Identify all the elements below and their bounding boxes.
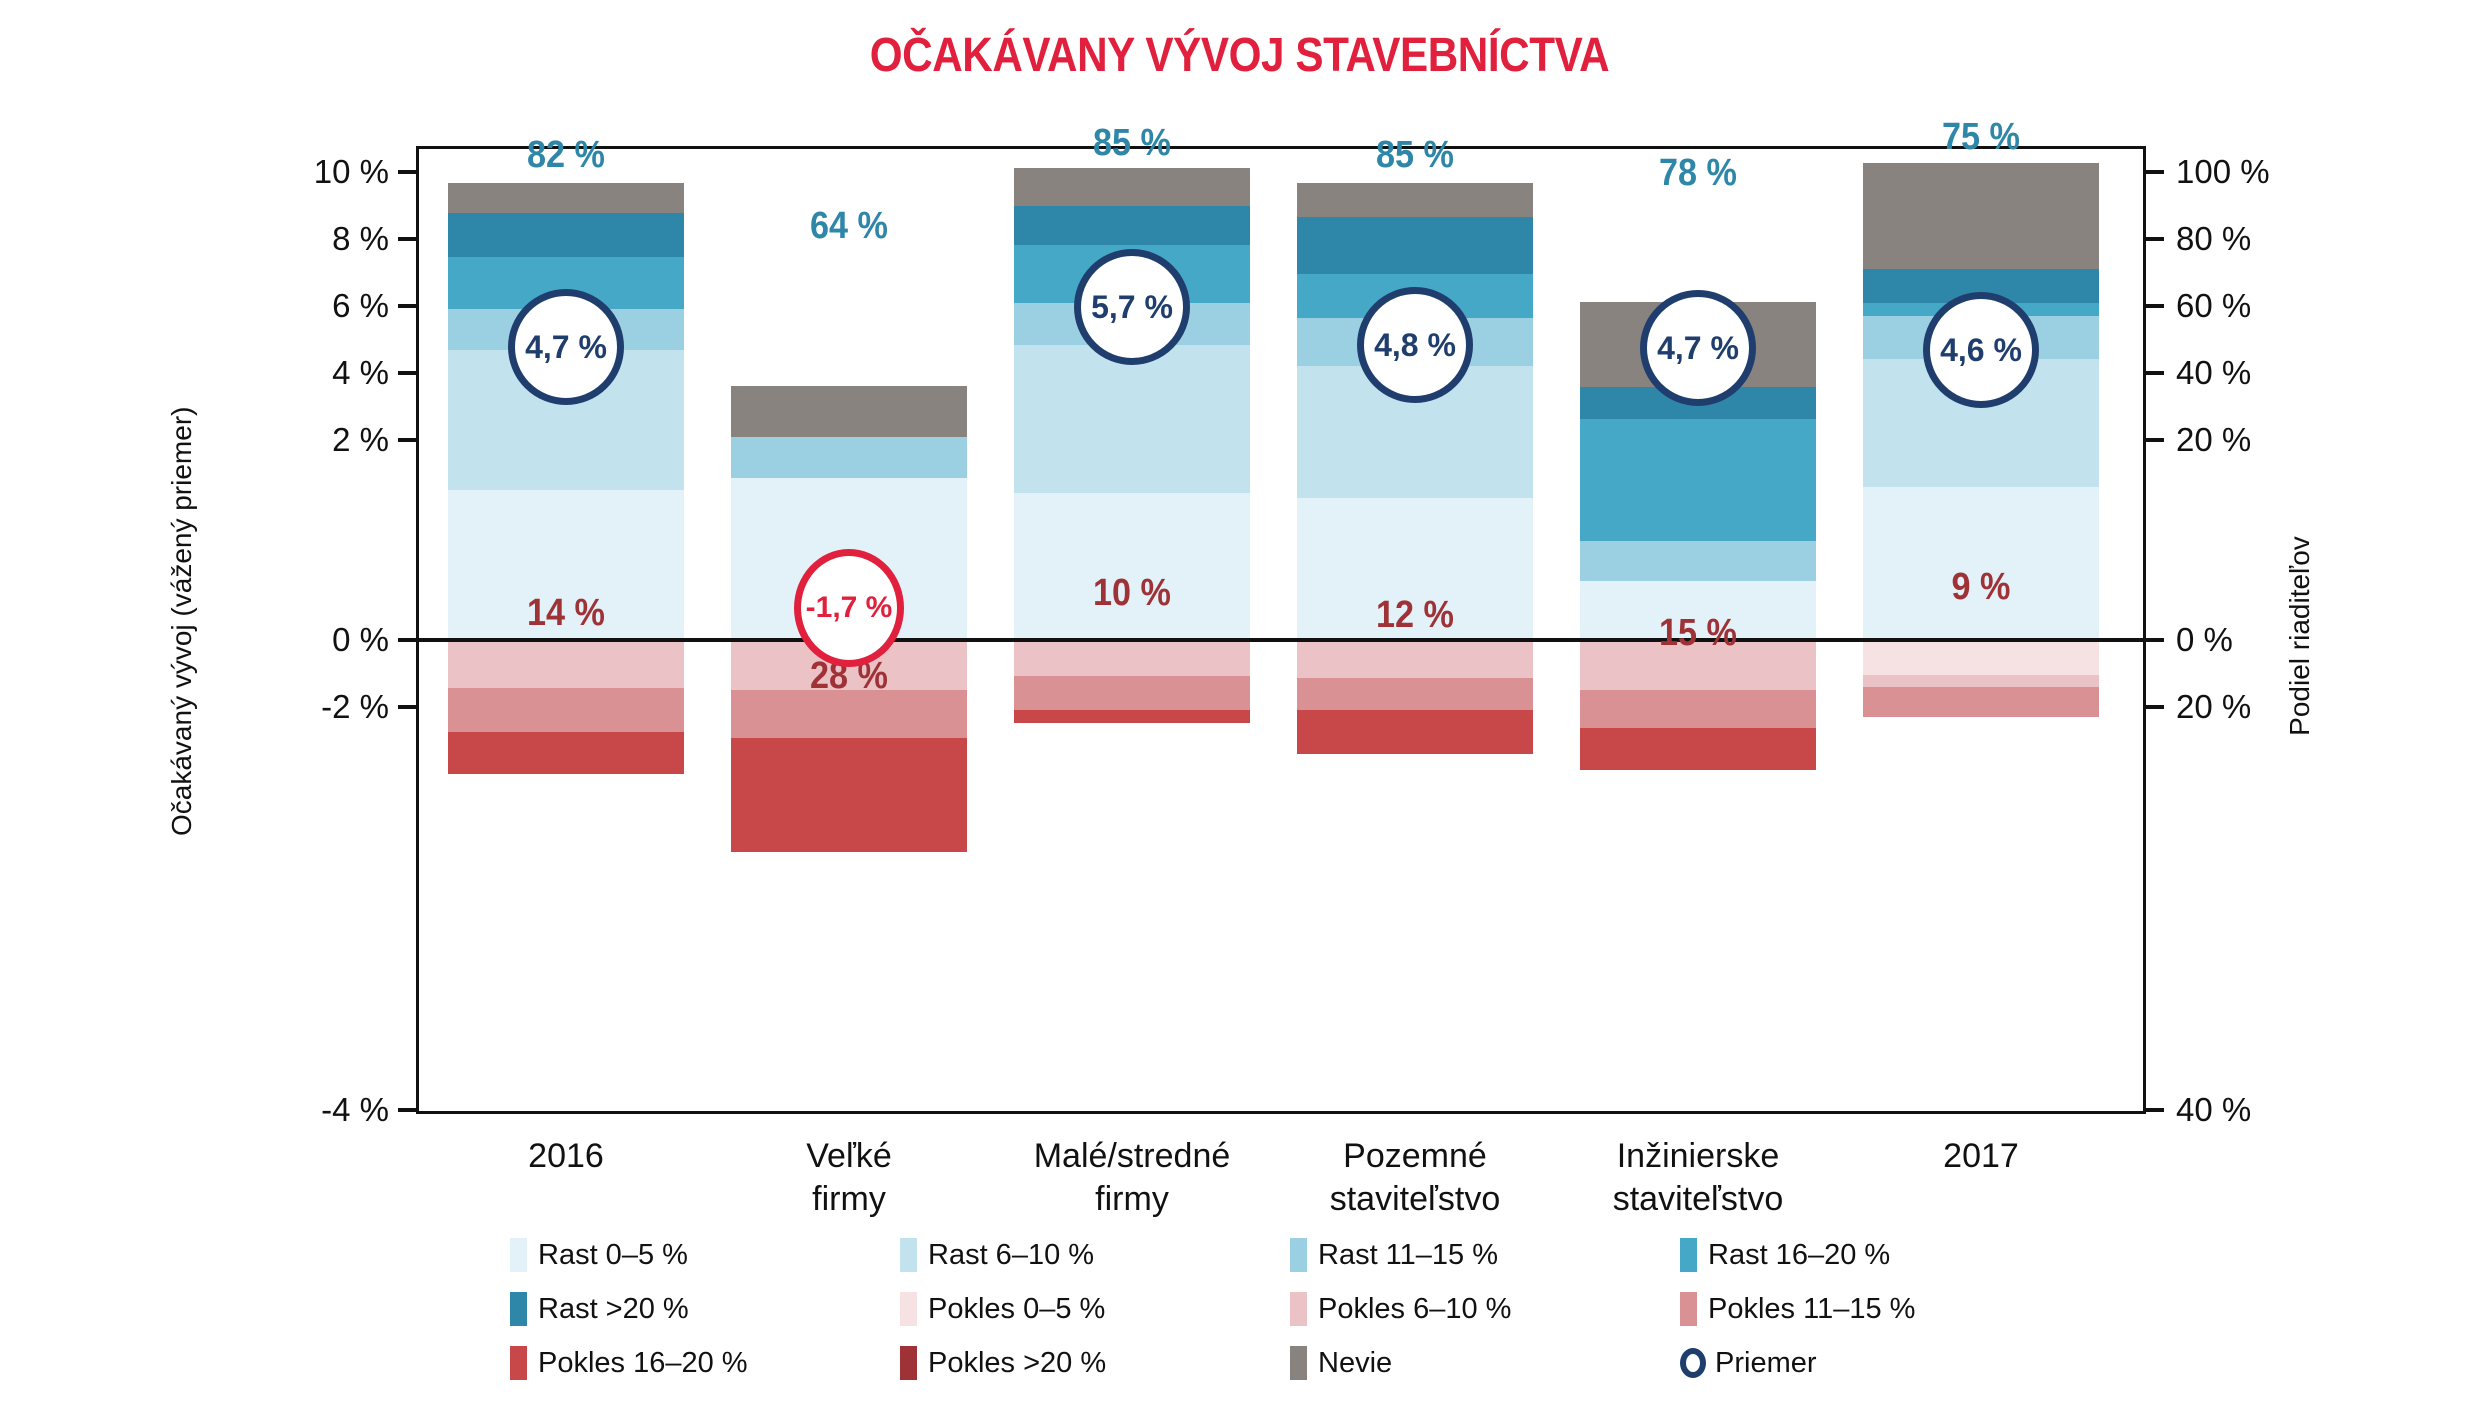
bar-segment[interactable]: [1297, 642, 1533, 678]
bar-segment[interactable]: [1014, 345, 1250, 493]
chart-legend: Rast 0–5 %Rast 6–10 %Rast 11–15 %Rast 16…: [510, 1238, 2070, 1380]
y-axis-right-tick: [2144, 1108, 2164, 1112]
y-axis-right-tick: [2144, 304, 2164, 308]
legend-item[interactable]: Rast 11–15 %: [1290, 1238, 1680, 1272]
bar-segment[interactable]: [448, 732, 684, 774]
bar-segment[interactable]: [1863, 487, 2099, 638]
bar-group[interactable]: 85 %12 %4,8 %: [1297, 0, 1533, 1114]
bar-group[interactable]: 85 %10 %5,7 %: [1014, 0, 1250, 1114]
bar-segment[interactable]: [448, 642, 684, 688]
legend-label: Pokles 16–20 %: [538, 1347, 748, 1380]
average-marker: 4,7 %: [1640, 290, 1756, 406]
y-axis-right-tick: [2144, 638, 2164, 642]
legend-label: Rast 16–20 %: [1708, 1239, 1890, 1272]
bar-growth-total-label: 85 %: [1309, 134, 1521, 177]
legend-item[interactable]: Pokles 11–15 %: [1680, 1292, 2070, 1326]
bar-segment[interactable]: [1863, 163, 2099, 269]
legend-swatch-icon: [1680, 1292, 1697, 1326]
legend-swatch-icon: [1680, 1238, 1697, 1272]
y-axis-left-label: 10 %: [314, 153, 389, 191]
bar-group[interactable]: 75 %9 %4,6 %: [1863, 0, 2099, 1114]
bar-group[interactable]: 64 %28 %-1,7 %: [731, 0, 967, 1114]
y-axis-left-title: Očakávaný vývoj (vážený priemer): [166, 416, 198, 836]
bar-growth-total-label: 75 %: [1875, 116, 2087, 159]
y-axis-left-label: 6 %: [332, 287, 389, 325]
bar-segment[interactable]: [1014, 710, 1250, 723]
y-axis-left-tick: [398, 170, 418, 174]
y-axis-left-tick: [398, 1108, 418, 1112]
legend-swatch-icon: [510, 1346, 527, 1380]
y-axis-right-tick: [2144, 371, 2164, 375]
bar-segment[interactable]: [1014, 642, 1250, 676]
bar-segment[interactable]: [1297, 217, 1533, 274]
y-axis-left-label: -4 %: [321, 1091, 389, 1129]
average-marker: 5,7 %: [1074, 249, 1190, 365]
legend-label: Pokles 6–10 %: [1318, 1293, 1511, 1326]
bar-segment[interactable]: [448, 183, 684, 213]
legend-label: Rast 0–5 %: [538, 1239, 688, 1272]
bar-segment[interactable]: [1580, 419, 1816, 541]
y-axis-right-tick: [2144, 170, 2164, 174]
bar-decline-total-label: 9 %: [1875, 566, 2087, 609]
y-axis-left-tick: [398, 705, 418, 709]
legend-item[interactable]: Rast 6–10 %: [900, 1238, 1290, 1272]
legend-item[interactable]: Pokles >20 %: [900, 1346, 1290, 1380]
y-axis-right-label: 20 %: [2176, 421, 2251, 459]
bar-growth-total-label: 64 %: [743, 205, 955, 248]
y-axis-left-label: 8 %: [332, 220, 389, 258]
y-axis-left-tick: [398, 438, 418, 442]
bar-group[interactable]: 78 %15 %4,7 %: [1580, 0, 1816, 1114]
bar-segment[interactable]: [1863, 687, 2099, 717]
bar-segment[interactable]: [1014, 168, 1250, 206]
bar-segment[interactable]: [731, 386, 967, 437]
bar-segment[interactable]: [1014, 493, 1250, 638]
y-axis-left-tick: [398, 371, 418, 375]
legend-swatch-icon: [900, 1292, 917, 1326]
y-axis-right-label: 20 %: [2176, 688, 2251, 726]
bar-segment[interactable]: [1580, 541, 1816, 581]
bar-segment[interactable]: [1863, 642, 2099, 675]
legend-item[interactable]: Priemer: [1680, 1346, 2070, 1380]
bar-decline-total-label: 12 %: [1309, 594, 1521, 637]
legend-label: Pokles >20 %: [928, 1347, 1106, 1380]
bar-decline-total-label: 10 %: [1026, 572, 1238, 615]
average-marker: -1,7 %: [794, 549, 904, 667]
legend-swatch-icon: [1290, 1238, 1307, 1272]
legend-label: Rast >20 %: [538, 1293, 689, 1326]
legend-label: Nevie: [1318, 1347, 1392, 1380]
legend-swatch-icon: [510, 1292, 527, 1326]
legend-label: Priemer: [1715, 1347, 1817, 1380]
legend-label: Pokles 0–5 %: [928, 1293, 1105, 1326]
bar-segment[interactable]: [1863, 675, 2099, 687]
y-axis-right-label: 40 %: [2176, 1091, 2251, 1129]
bar-segment[interactable]: [1297, 678, 1533, 710]
legend-swatch-icon: [900, 1238, 917, 1272]
bar-segment[interactable]: [1297, 183, 1533, 217]
bar-growth-total-label: 82 %: [460, 134, 672, 177]
legend-swatch-icon: [1290, 1292, 1307, 1326]
x-axis-category-label: 2017: [1793, 1135, 2169, 1178]
bar-segment[interactable]: [1014, 676, 1250, 710]
y-axis-right-tick: [2144, 705, 2164, 709]
legend-item[interactable]: Rast 16–20 %: [1680, 1238, 2070, 1272]
y-axis-right-label: 100 %: [2176, 153, 2270, 191]
y-axis-left-label: 0 %: [332, 621, 389, 659]
y-axis-right-title: Podiel riaditeľov: [2284, 426, 2316, 846]
y-axis-left-label: 2 %: [332, 421, 389, 459]
y-axis-left-label: -2 %: [321, 688, 389, 726]
y-axis-right-label: 60 %: [2176, 287, 2251, 325]
average-marker: 4,7 %: [508, 289, 624, 405]
bar-growth-total-label: 78 %: [1592, 152, 1804, 195]
average-marker: 4,6 %: [1923, 292, 2039, 408]
legend-swatch-icon: [510, 1238, 527, 1272]
legend-item[interactable]: Pokles 0–5 %: [900, 1292, 1290, 1326]
bar-decline-total-label: 15 %: [1592, 612, 1804, 655]
legend-item[interactable]: Rast >20 %: [510, 1292, 900, 1326]
average-marker: 4,8 %: [1357, 287, 1473, 403]
legend-item[interactable]: Pokles 6–10 %: [1290, 1292, 1680, 1326]
bar-segment[interactable]: [448, 688, 684, 732]
average-ring-icon: [1680, 1348, 1706, 1378]
y-axis-right-tick: [2144, 438, 2164, 442]
bar-decline-total-label: 14 %: [460, 592, 672, 635]
y-axis-left-label: 4 %: [332, 354, 389, 392]
y-axis-right-label: 80 %: [2176, 220, 2251, 258]
bar-segment[interactable]: [731, 437, 967, 478]
bar-group[interactable]: 82 %14 %4,7 %: [448, 0, 684, 1114]
legend-label: Rast 11–15 %: [1318, 1239, 1498, 1272]
y-axis-right-tick: [2144, 237, 2164, 241]
bar-segment[interactable]: [1297, 710, 1533, 754]
bar-segment[interactable]: [1580, 728, 1816, 770]
bar-segment[interactable]: [1580, 690, 1816, 728]
legend-item[interactable]: Rast 0–5 %: [510, 1238, 900, 1272]
bar-segment[interactable]: [731, 738, 967, 852]
legend-item[interactable]: Pokles 16–20 %: [510, 1346, 900, 1380]
bar-growth-total-label: 85 %: [1026, 122, 1238, 165]
legend-item[interactable]: Nevie: [1290, 1346, 1680, 1380]
y-axis-left-tick: [398, 304, 418, 308]
legend-swatch-icon: [1290, 1346, 1307, 1380]
bar-segment[interactable]: [448, 213, 684, 257]
y-axis-left-tick: [398, 237, 418, 241]
legend-label: Pokles 11–15 %: [1708, 1293, 1915, 1326]
legend-label: Rast 6–10 %: [928, 1239, 1094, 1272]
legend-swatch-icon: [900, 1346, 917, 1380]
y-axis-left-tick: [398, 638, 418, 642]
y-axis-right-label: 40 %: [2176, 354, 2251, 392]
y-axis-right-label: 0 %: [2176, 621, 2233, 659]
bar-segment[interactable]: [1014, 206, 1250, 245]
